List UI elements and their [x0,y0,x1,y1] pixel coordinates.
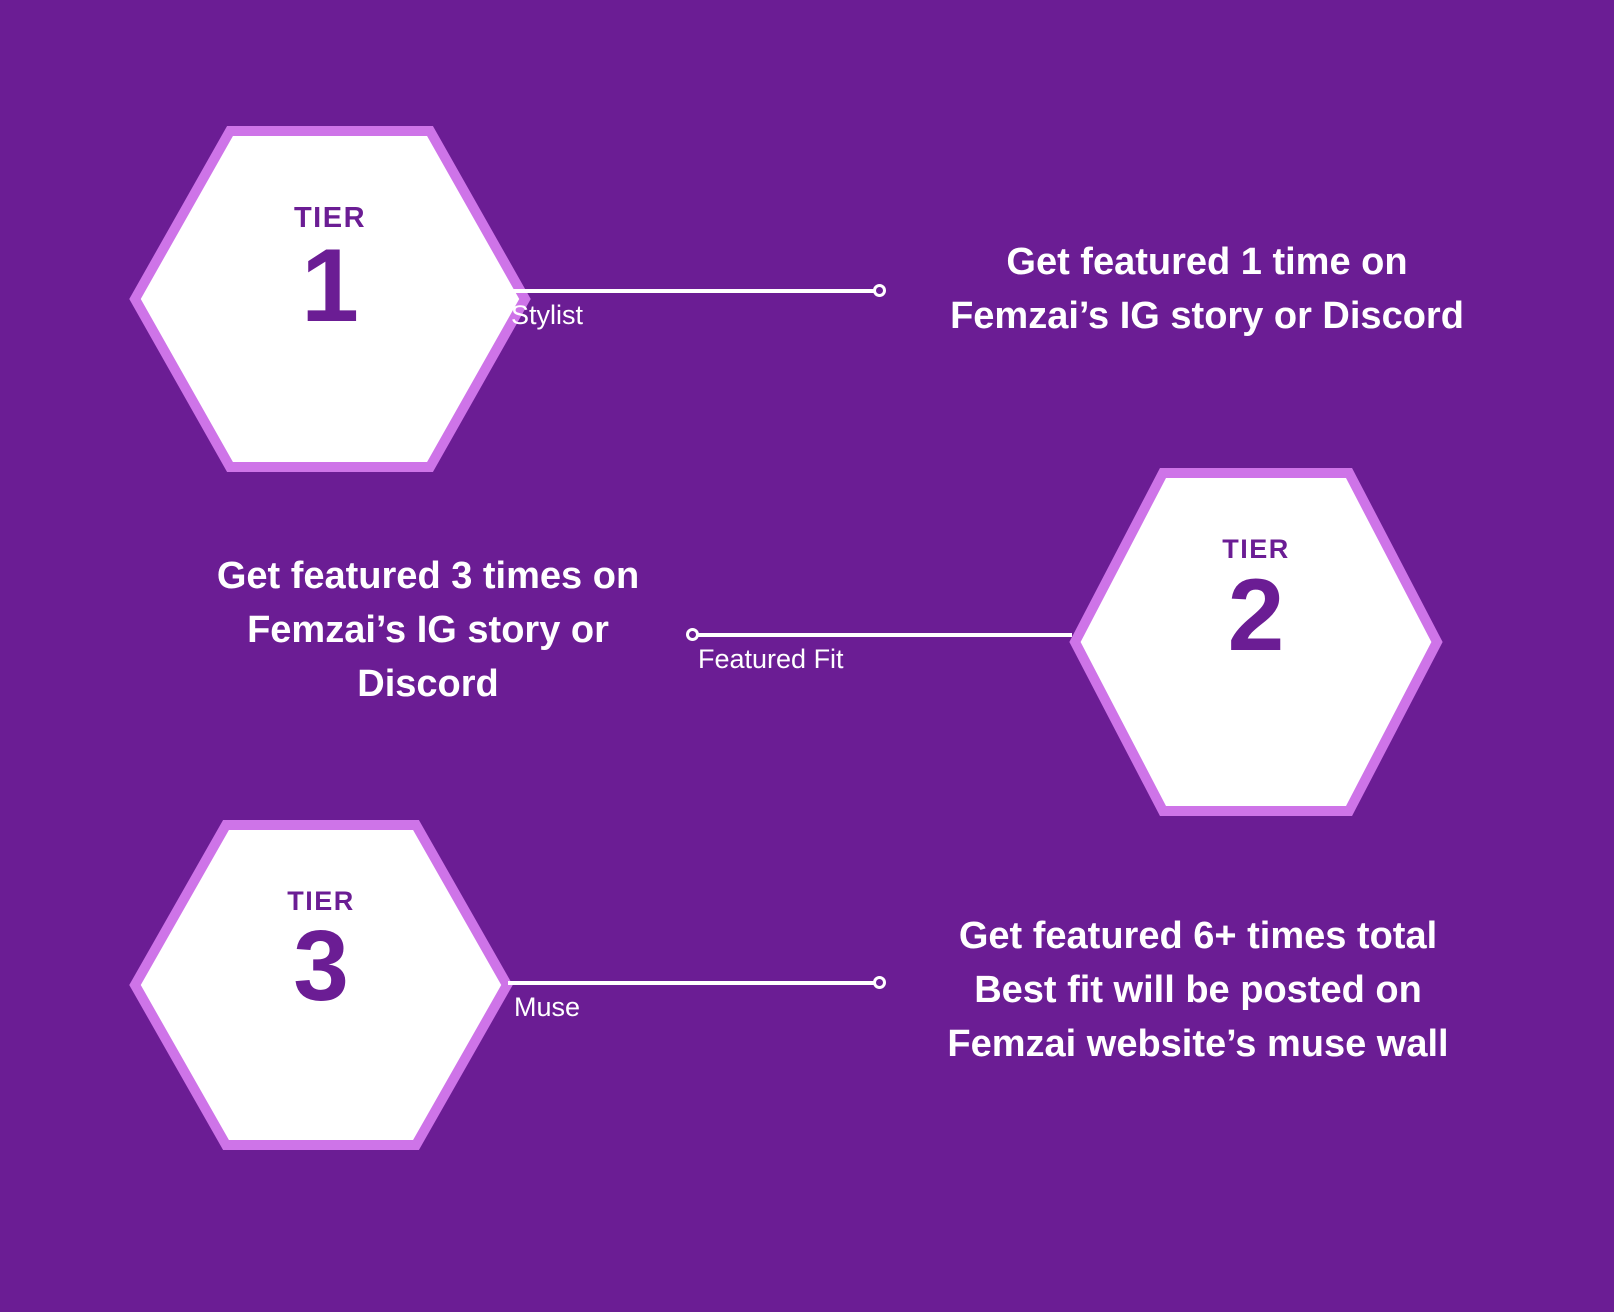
connector-line-tier-3 [508,981,880,985]
description-line: Femzai’s IG story or [178,604,678,658]
description-line: Discord [178,658,678,712]
description-line: Femzai website’s muse wall [912,1018,1484,1072]
connector-caption-tier-1: Stylist [511,299,583,333]
connector-caption-tier-3: Muse [514,991,580,1025]
hexagon-shape-icon [130,820,512,1150]
hexagon-shape-icon [1070,468,1442,816]
description-line: Femzai’s IG story or Discord [922,290,1492,344]
description-line: Get featured 3 times on [178,550,678,604]
hexagon-shape-icon [130,126,530,472]
hexagon-badge-tier-1[interactable]: TIER 1 [130,126,530,472]
description-tier-1: Get featured 1 time on Femzai’s IG story… [922,236,1492,344]
description-tier-2: Get featured 3 times on Femzai’s IG stor… [178,550,678,712]
description-line: Best fit will be posted on [912,964,1484,1018]
connector-line-tier-2 [692,633,1072,637]
connector-endpoint-dot-tier-3 [873,976,886,989]
description-line: Get featured 1 time on [922,236,1492,290]
hexagon-badge-tier-2[interactable]: TIER 2 [1070,468,1442,816]
description-tier-3: Get featured 6+ times total Best fit wil… [912,910,1484,1072]
infographic-canvas: TIER 1 Stylist Get featured 1 time on Fe… [0,0,1614,1312]
connector-endpoint-dot-tier-2 [686,628,699,641]
connector-caption-tier-2: Featured Fit [698,643,844,677]
description-line: Get featured 6+ times total [912,910,1484,964]
connector-line-tier-1 [505,289,880,293]
hexagon-badge-tier-3[interactable]: TIER 3 [130,820,512,1150]
connector-endpoint-dot-tier-1 [873,284,886,297]
